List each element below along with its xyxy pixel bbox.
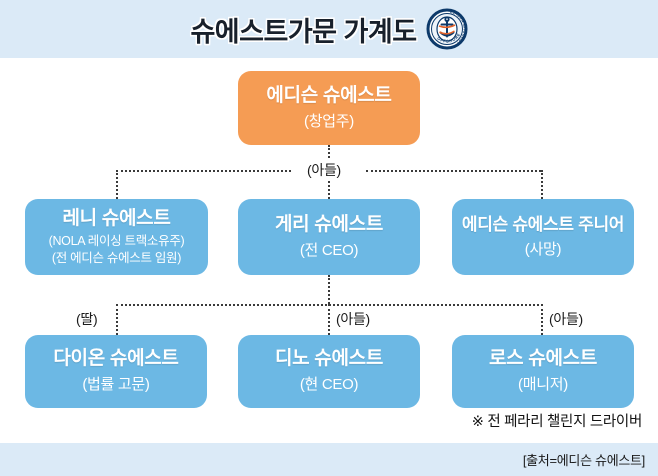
connector-gen2-bus-left	[116, 170, 291, 172]
node-edison-chouest-jr[interactable]: 에디슨 슈에스트 주니어 (사망)	[452, 199, 634, 275]
node-dionne-chouest[interactable]: 다이온 슈에스트 (법률 고문)	[25, 335, 207, 408]
edison-chouest-offshore-logo-icon: EDISON CHOUEST OFFSHORE	[426, 8, 468, 50]
connector-gen2-drop-right	[541, 170, 543, 199]
relation-label-ross: (아들)	[545, 309, 587, 329]
node-role: (사망)	[525, 240, 561, 260]
node-name: 디노 슈에스트	[275, 348, 383, 370]
connector-gary-down	[328, 275, 330, 304]
node-role: (전 CEO)	[300, 241, 358, 261]
source-credit: [출처=에디슨 슈에스트]	[523, 450, 645, 469]
node-edison-chouest-founder[interactable]: 에디슨 슈에스트 (창업주)	[238, 71, 420, 145]
node-gary-chouest[interactable]: 게리 슈에스트 (전 CEO)	[238, 199, 420, 275]
node-role: (매니저)	[518, 375, 568, 395]
node-name: 에디슨 슈에스트	[266, 85, 391, 107]
footnote: ※ 전 페라리 챌린지 드라이버	[472, 410, 642, 431]
page-title: 슈에스트가문 가계도	[190, 10, 416, 49]
node-dino-chouest[interactable]: 디노 슈에스트 (현 CEO)	[238, 335, 420, 408]
node-role: (법률 고문)	[82, 375, 149, 395]
node-name: 로스 슈에스트	[489, 348, 597, 370]
node-ross-chouest[interactable]: 로스 슈에스트 (매니저)	[452, 335, 634, 408]
node-name: 게리 슈에스트	[275, 214, 383, 236]
node-name: 레니 슈에스트	[62, 208, 170, 230]
relation-label-gen2: (아들)	[303, 160, 345, 180]
node-name: 에디슨 슈에스트 주니어	[462, 215, 624, 235]
node-role: (현 CEO)	[300, 375, 358, 395]
header: 슈에스트가문 가계도 EDISON CHOUEST OFFSHORE	[0, 0, 658, 58]
node-name: 다이온 슈에스트	[53, 348, 178, 370]
node-role: (창업주)	[304, 112, 354, 132]
connector-gen2-bus-right	[366, 170, 541, 172]
node-lenny-chouest[interactable]: 레니 슈에스트 (NOLA 레이싱 트랙소유주) (전 에디슨 슈에스트 임원)	[25, 199, 208, 275]
node-role-primary: (NOLA 레이싱 트랙소유주)	[49, 234, 185, 250]
connector-gen3-drop-left	[116, 304, 118, 335]
connector-gen2-drop-left	[116, 170, 118, 199]
node-role-secondary: (전 에디슨 슈에스트 임원)	[52, 251, 181, 267]
connector-gen3-drop-right	[541, 304, 543, 335]
family-tree-chart: 에디슨 슈에스트 (창업주) (아들) 레니 슈에스트 (NOLA 레이싱 트랙…	[0, 58, 658, 443]
connector-gen3-drop-center	[328, 304, 330, 335]
relation-label-dino: (아들)	[332, 309, 374, 329]
relation-label-dionne: (딸)	[72, 309, 101, 329]
